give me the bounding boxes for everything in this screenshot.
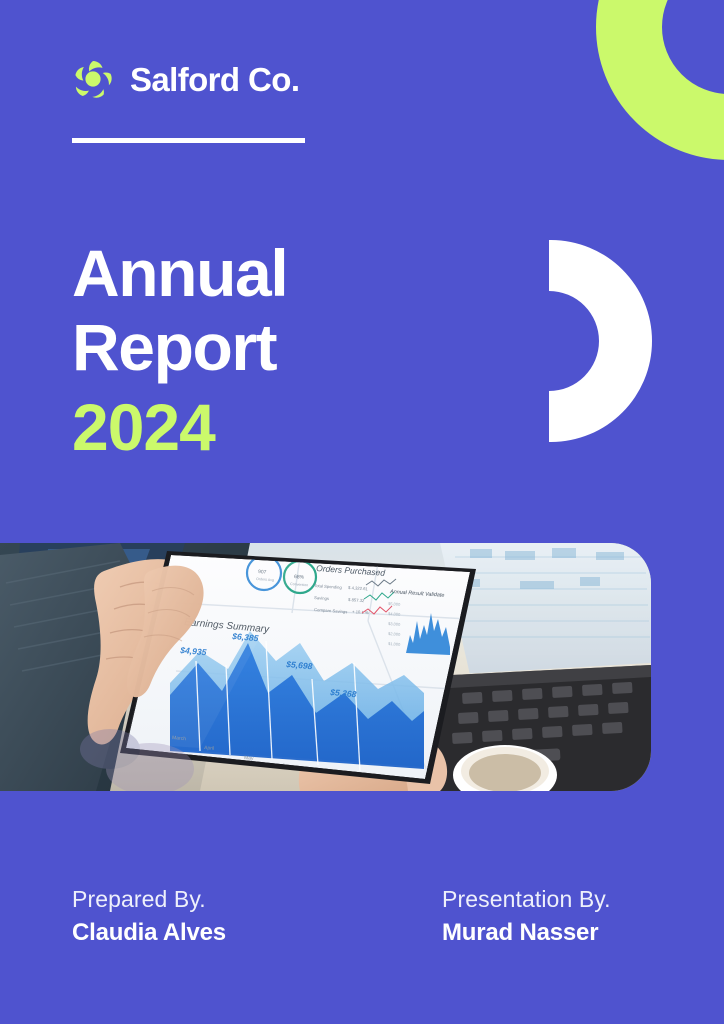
title-year: 2024 bbox=[72, 394, 492, 460]
credit-label: Presentation By. bbox=[442, 884, 611, 915]
cover-photo: 907 Orders Avg 68% Conversion Orders Pur… bbox=[0, 543, 651, 791]
page-title: Annual Report 2024 bbox=[72, 240, 492, 460]
report-cover-page: Salford Co. Annual Report 2024 bbox=[0, 0, 724, 1024]
credit-presentation-by: Presentation By. Murad Nasser bbox=[442, 884, 611, 949]
green-ring-shape bbox=[596, 0, 724, 160]
white-crescent-shape bbox=[549, 240, 652, 442]
svg-text:April: April bbox=[204, 745, 215, 752]
svg-text:$5,000: $5,000 bbox=[388, 601, 401, 607]
title-line-2: Report bbox=[72, 314, 492, 380]
credits-row: Prepared By. Claudia Alves Presentation … bbox=[72, 884, 652, 949]
svg-text:$3,000: $3,000 bbox=[388, 621, 401, 627]
pinwheel-logo-icon bbox=[72, 58, 114, 100]
svg-text:$1,000: $1,000 bbox=[388, 641, 401, 647]
header-divider bbox=[72, 138, 305, 143]
svg-text:$4,000: $4,000 bbox=[388, 611, 401, 617]
title-line-1: Annual bbox=[72, 240, 492, 306]
credit-name: Claudia Alves bbox=[72, 917, 442, 949]
credit-label: Prepared By. bbox=[72, 884, 442, 915]
credit-prepared-by: Prepared By. Claudia Alves bbox=[72, 884, 442, 949]
brand-lockup: Salford Co. bbox=[72, 58, 299, 100]
credit-name: Murad Nasser bbox=[442, 917, 611, 949]
svg-text:$2,000: $2,000 bbox=[388, 631, 401, 637]
svg-text:68%: 68% bbox=[294, 574, 305, 581]
svg-text:Savings: Savings bbox=[314, 595, 329, 601]
brand-name: Salford Co. bbox=[130, 63, 299, 96]
